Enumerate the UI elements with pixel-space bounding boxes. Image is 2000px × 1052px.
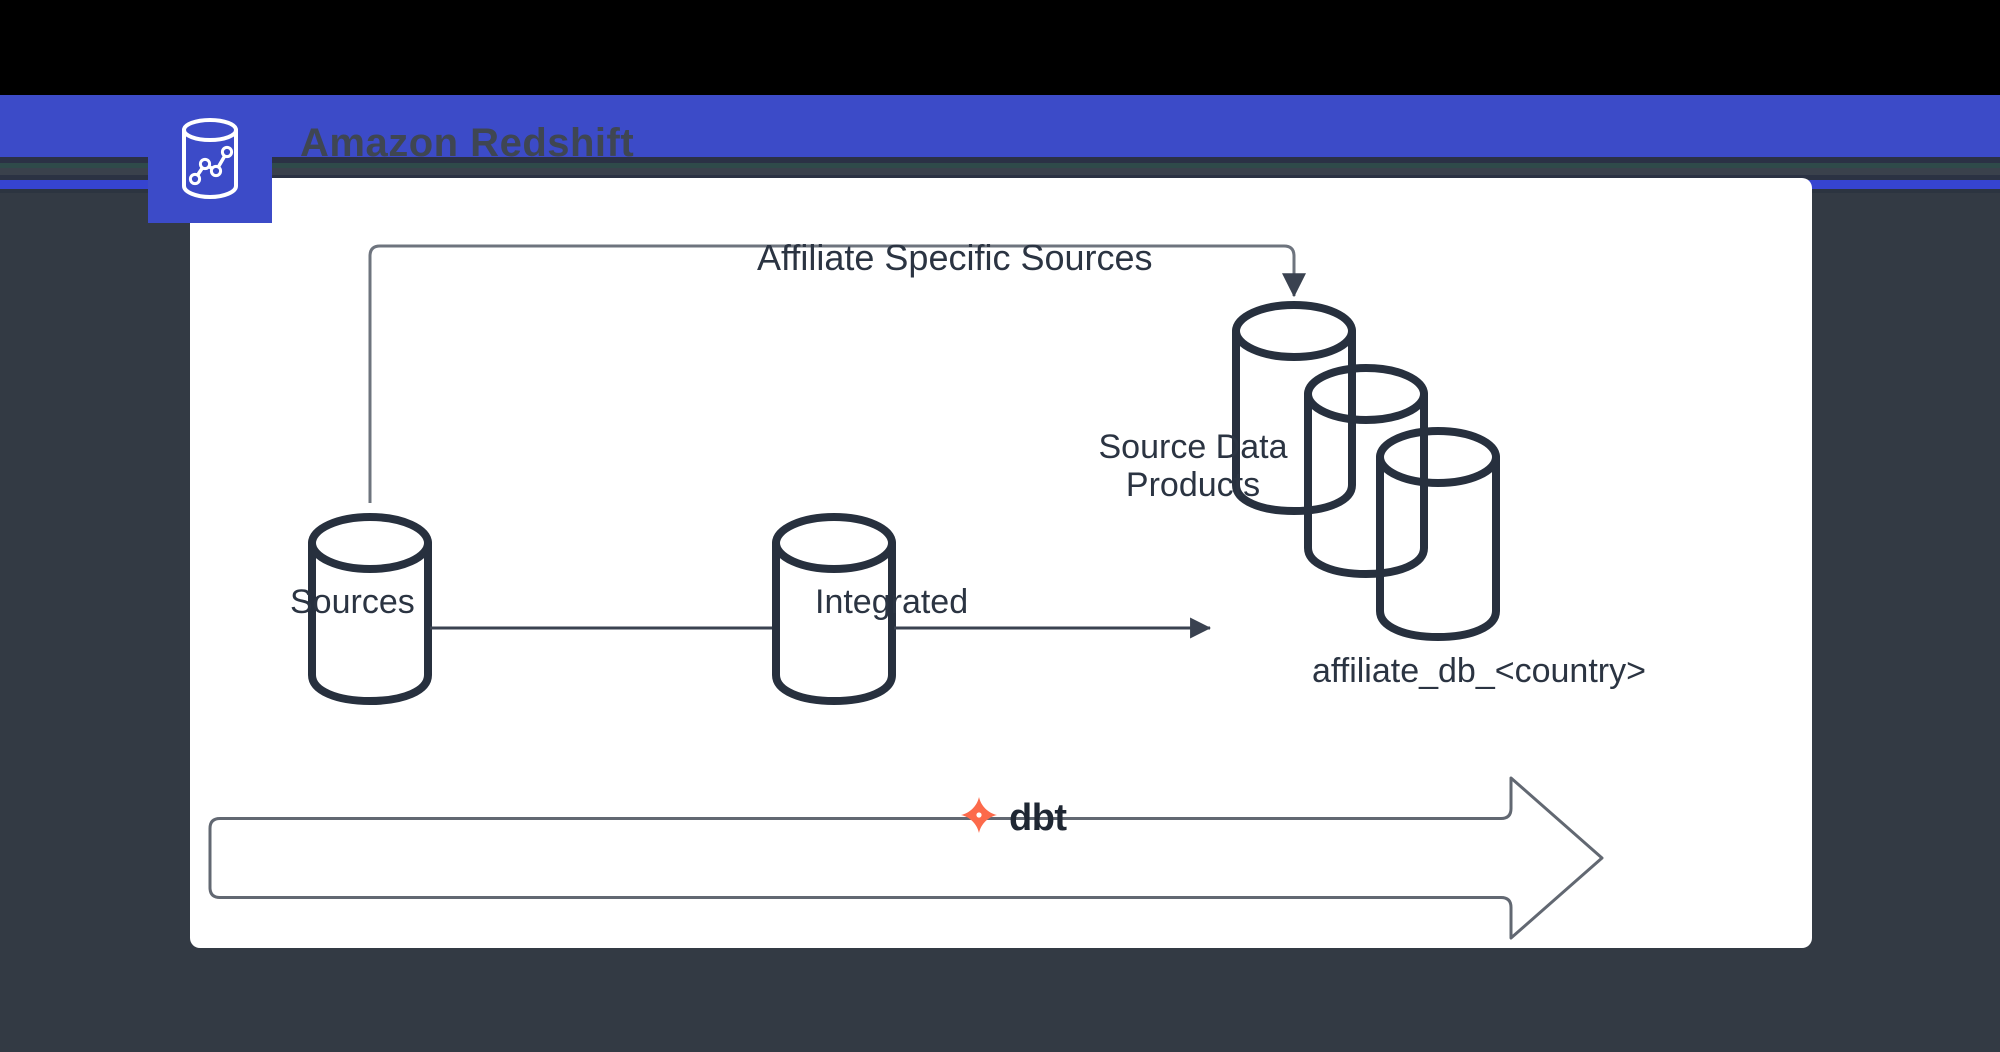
screenshot-root: Amazon Redshift — [0, 0, 2000, 1052]
dbt-wordmark: dbt — [1009, 799, 1067, 837]
node-label-sources: Sources — [290, 583, 415, 621]
page-title: Amazon Redshift — [300, 123, 634, 163]
edge-label-line-2: Products — [1058, 466, 1328, 504]
node-label-integrated: Integrated — [815, 583, 968, 621]
cylinder-front — [1380, 431, 1496, 637]
node-label-affiliate-db: affiliate_db_<country> — [1312, 652, 1646, 690]
dbt-banner-arrow — [210, 778, 1602, 938]
edge-label-source-data-products: Source Data Products — [1058, 428, 1328, 504]
edge-label-line-1: Source Data — [1058, 428, 1328, 466]
dbt-logo-lockup: dbt — [958, 794, 1067, 841]
header-stripe-3 — [0, 168, 2000, 175]
edge-label-affiliate-specific-sources: Affiliate Specific Sources — [757, 238, 1153, 278]
dbt-logo-icon — [958, 794, 1000, 841]
